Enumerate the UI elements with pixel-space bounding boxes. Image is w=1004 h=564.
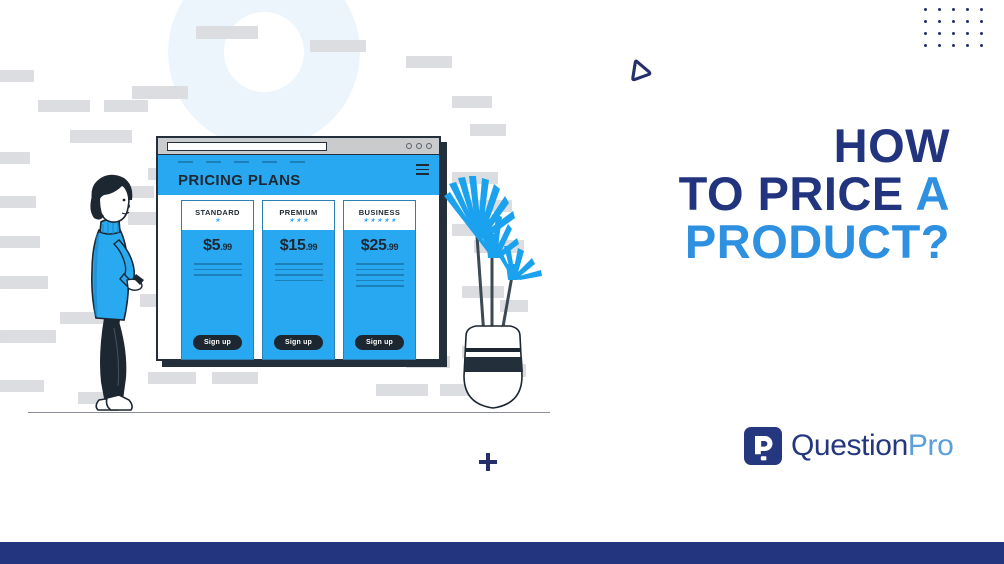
window-control-dot[interactable] [416, 143, 422, 149]
nav-item[interactable] [262, 161, 277, 163]
nav-item[interactable] [206, 161, 221, 163]
dot-grid-dot [924, 32, 927, 35]
window-controls[interactable] [406, 143, 432, 149]
star-icon: ★ [370, 218, 375, 224]
pricing-card-header: PREMIUM★★★ [262, 200, 335, 230]
wall-brick [0, 70, 34, 82]
dot-grid-dot [924, 8, 927, 11]
plan-feature-list [194, 263, 242, 276]
star-icon: ★ [303, 218, 308, 224]
site-nav[interactable] [178, 161, 305, 163]
headline-line-2: TO PRICE A [530, 170, 950, 218]
plan-name: PREMIUM [279, 208, 317, 217]
plan-name: BUSINESS [359, 208, 401, 217]
pricing-card[interactable]: STANDARD★$5.99Sign up [181, 200, 254, 360]
questionpro-p-question-mark-icon [744, 427, 782, 465]
plan-feature-line [275, 274, 323, 276]
star-icon: ★ [215, 218, 220, 224]
dot-grid-dot [952, 20, 955, 23]
headline-line-2-light: A [916, 167, 950, 220]
dot-grid-dot [980, 44, 983, 47]
wall-brick [310, 40, 366, 52]
wall-brick [0, 330, 56, 343]
dot-grid-dot [938, 20, 941, 23]
pricing-plans-title: PRICING PLANS [178, 172, 301, 189]
pricing-card-body: $15.99Sign up [262, 230, 335, 360]
dot-grid-dot [980, 8, 983, 11]
dot-grid-dot [938, 32, 941, 35]
wall-brick [0, 276, 48, 289]
address-bar[interactable] [167, 142, 327, 151]
star-icon: ★ [377, 218, 382, 224]
dot-grid-dot [952, 32, 955, 35]
plan-price-cents: .99 [220, 242, 232, 252]
wall-brick [70, 130, 132, 143]
page-title: HOW TO PRICE A PRODUCT? [530, 122, 950, 266]
browser-chrome [158, 138, 439, 155]
window-control-dot[interactable] [406, 143, 412, 149]
questionpro-logo[interactable]: QuestionPro [744, 427, 953, 465]
plan-feature-line [275, 269, 323, 271]
plan-feature-line [194, 263, 242, 265]
star-icon: ★ [289, 218, 294, 224]
pricing-card-body: $25.99Sign up [343, 230, 416, 360]
pricing-card-header: BUSINESS★★★★★ [343, 200, 416, 230]
dot-grid-dot [938, 44, 941, 47]
sign-up-button[interactable]: Sign up [274, 335, 323, 350]
plan-feature-line [356, 285, 404, 287]
wall-brick [0, 152, 30, 164]
plan-feature-line [275, 263, 323, 265]
star-icon: ★ [363, 218, 368, 224]
plan-price: $15.99 [280, 237, 317, 255]
plan-price: $5.99 [203, 237, 232, 255]
dot-grid-dot [966, 8, 969, 11]
site-header: PRICING PLANS [158, 155, 439, 195]
plan-star-rating: ★★★ [289, 218, 308, 224]
wall-brick [0, 236, 40, 248]
dot-grid-dot [952, 8, 955, 11]
dot-grid-dot [938, 8, 941, 11]
ground-line [28, 412, 550, 413]
questionpro-wordmark: QuestionPro [791, 429, 953, 463]
wall-brick [196, 26, 258, 39]
slide-canvas: PRICING PLANS STANDARD★$5.99Sign upPREMI… [0, 0, 1004, 564]
hero-illustration: PRICING PLANS STANDARD★$5.99Sign upPREMI… [0, 0, 600, 520]
nav-item[interactable] [234, 161, 249, 163]
plan-price-main: $5 [203, 237, 220, 254]
plan-price-main: $25 [361, 237, 387, 254]
plan-price-cents: .99 [306, 242, 318, 252]
plan-feature-line [356, 269, 404, 271]
bottom-accent-bar [0, 542, 1004, 564]
plan-feature-line [194, 269, 242, 271]
sign-up-button[interactable]: Sign up [193, 335, 242, 350]
hamburger-menu-icon[interactable] [416, 164, 429, 174]
plan-feature-line [194, 274, 242, 276]
pricing-card-header: STANDARD★ [181, 200, 254, 230]
pricing-card[interactable]: BUSINESS★★★★★$25.99Sign up [343, 200, 416, 360]
pricing-card-list: STANDARD★$5.99Sign upPREMIUM★★★$15.99Sig… [158, 200, 439, 360]
dot-grid-dot [966, 44, 969, 47]
dot-grid-dot [924, 44, 927, 47]
browser-window-mockup: PRICING PLANS STANDARD★$5.99Sign upPREMI… [156, 136, 441, 361]
wall-brick [452, 96, 492, 108]
headline-line-1: HOW [530, 122, 950, 170]
plan-feature-list [356, 263, 404, 287]
dot-grid-dot [980, 32, 983, 35]
wall-brick [376, 384, 428, 396]
wall-brick [406, 56, 452, 68]
plan-name: STANDARD [195, 208, 240, 217]
dot-grid-dot [924, 20, 927, 23]
plan-price-cents: .99 [387, 242, 399, 252]
plan-star-rating: ★ [215, 218, 220, 224]
logo-text-pro: Pro [908, 429, 954, 462]
wall-brick [148, 372, 196, 384]
wall-brick [132, 86, 188, 99]
plan-price-main: $15 [280, 237, 306, 254]
pricing-card[interactable]: PREMIUM★★★$15.99Sign up [262, 200, 335, 360]
dot-grid-decoration [924, 8, 986, 52]
dot-grid-dot [966, 32, 969, 35]
nav-item[interactable] [178, 161, 193, 163]
headline-line-3: PRODUCT? [530, 218, 950, 266]
window-control-dot[interactable] [426, 143, 432, 149]
plan-price: $25.99 [361, 237, 398, 255]
plan-feature-list [275, 263, 323, 281]
pricing-card-body: $5.99Sign up [181, 230, 254, 360]
wall-brick [212, 372, 258, 384]
wall-brick [38, 100, 90, 112]
plan-feature-line [356, 274, 404, 276]
star-icon: ★ [391, 218, 396, 224]
sign-up-button[interactable]: Sign up [355, 335, 404, 350]
woman-holding-phone [74, 168, 150, 414]
plan-star-rating: ★★★★★ [363, 218, 396, 224]
wall-brick [104, 100, 148, 112]
star-icon: ★ [296, 218, 301, 224]
plan-feature-line [275, 280, 323, 282]
dot-grid-dot [980, 20, 983, 23]
plan-feature-line [356, 263, 404, 265]
wall-brick [0, 380, 44, 392]
headline-line-2-dark: TO PRICE [679, 167, 916, 220]
logo-text-question: Question [791, 429, 908, 462]
plan-feature-line [356, 280, 404, 282]
nav-item[interactable] [290, 161, 305, 163]
rounded-triangle-icon [625, 55, 653, 83]
wall-brick [0, 196, 36, 208]
dot-grid-dot [966, 20, 969, 23]
wall-brick [470, 124, 506, 136]
star-icon: ★ [384, 218, 389, 224]
dot-grid-dot [952, 44, 955, 47]
